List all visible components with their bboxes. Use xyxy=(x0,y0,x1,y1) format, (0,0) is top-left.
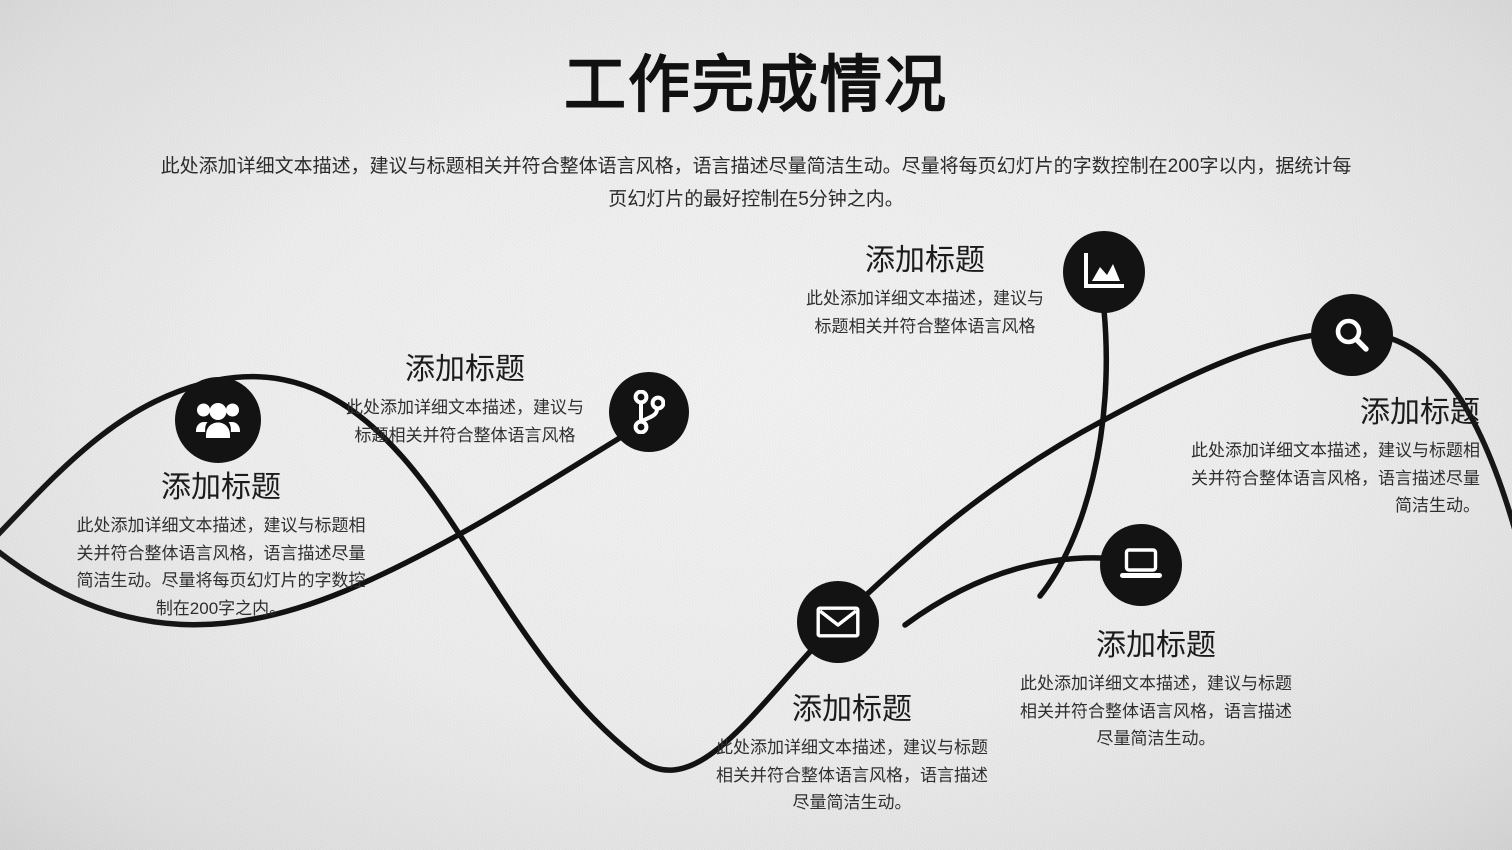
block-search: 添加标题 此处添加详细文本描述，建议与标题相关并符合整体语言风格，语言描述尽量简… xyxy=(1190,395,1480,520)
block-people-title: 添加标题 xyxy=(76,470,366,506)
block-chart-body: 此处添加详细文本描述，建议与标题相关并符合整体语言风格 xyxy=(800,285,1050,340)
page-subtitle: 此处添加详细文本描述，建议与标题相关并符合整体语言风格，语言描述尽量简洁生动。尽… xyxy=(156,150,1356,217)
block-laptop-title: 添加标题 xyxy=(1016,628,1296,664)
block-search-body: 此处添加详细文本描述，建议与标题相关并符合整体语言风格，语言描述尽量简洁生动。 xyxy=(1190,437,1480,520)
laptop-icon xyxy=(1118,547,1164,583)
git-branch-icon xyxy=(633,390,665,434)
people-icon xyxy=(195,400,241,440)
block-chart: 添加标题 此处添加详细文本描述，建议与标题相关并符合整体语言风格 xyxy=(800,243,1050,340)
block-mail-body: 此处添加详细文本描述，建议与标题相关并符合整体语言风格，语言描述尽量简洁生动。 xyxy=(712,734,992,817)
block-mail-title: 添加标题 xyxy=(712,692,992,728)
node-search[interactable] xyxy=(1311,294,1393,376)
block-mail: 添加标题 此处添加详细文本描述，建议与标题相关并符合整体语言风格，语言描述尽量简… xyxy=(712,692,992,817)
node-branch[interactable] xyxy=(609,372,689,452)
block-branch-body: 此处添加详细文本描述，建议与标题相关并符合整体语言风格 xyxy=(340,394,590,449)
slide-canvas: 工作完成情况 此处添加详细文本描述，建议与标题相关并符合整体语言风格，语言描述尽… xyxy=(0,0,1512,850)
block-chart-title: 添加标题 xyxy=(800,243,1050,279)
block-laptop: 添加标题 此处添加详细文本描述，建议与标题相关并符合整体语言风格，语言描述尽量简… xyxy=(1016,628,1296,753)
block-branch-title: 添加标题 xyxy=(340,352,590,388)
block-branch: 添加标题 此处添加详细文本描述，建议与标题相关并符合整体语言风格 xyxy=(340,352,590,449)
node-people[interactable] xyxy=(175,377,261,463)
node-laptop[interactable] xyxy=(1100,524,1182,606)
block-laptop-body: 此处添加详细文本描述，建议与标题相关并符合整体语言风格，语言描述尽量简洁生动。 xyxy=(1016,670,1296,753)
mail-icon xyxy=(816,606,860,638)
node-chart[interactable] xyxy=(1063,231,1145,313)
block-people-body: 此处添加详细文本描述，建议与标题相关并符合整体语言风格，语言描述尽量简洁生动。尽… xyxy=(76,512,366,622)
area-chart-icon xyxy=(1082,252,1126,292)
node-mail[interactable] xyxy=(797,581,879,663)
chart-node-stem-path xyxy=(1040,310,1106,596)
block-search-title: 添加标题 xyxy=(1190,395,1480,431)
search-icon xyxy=(1332,315,1372,355)
block-people: 添加标题 此处添加详细文本描述，建议与标题相关并符合整体语言风格，语言描述尽量简… xyxy=(76,470,366,622)
page-title: 工作完成情况 xyxy=(0,52,1512,120)
